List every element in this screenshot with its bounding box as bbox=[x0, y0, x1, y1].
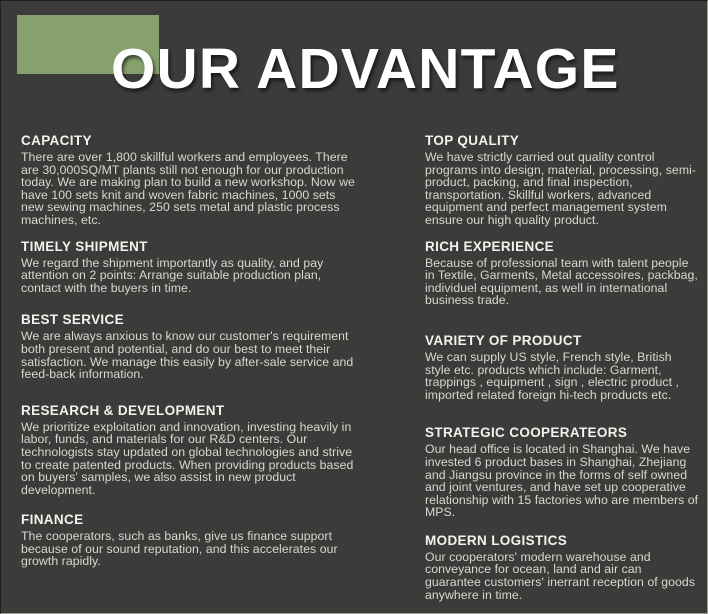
block-heading: RICH EXPERIENCE bbox=[425, 239, 699, 255]
block-body: We prioritize exploitation and innovatio… bbox=[21, 421, 355, 497]
advantage-block-top-quality: TOP QUALITY We have strictly carried out… bbox=[425, 133, 699, 227]
advantage-block-strategic-cooperateors: STRATEGIC COOPERATEORS Our head office i… bbox=[425, 425, 699, 519]
block-heading: RESEARCH & DEVELOPMENT bbox=[21, 403, 355, 419]
page-title: OUR ADVANTAGE bbox=[111, 39, 620, 99]
block-body: The cooperators, such as banks, give us … bbox=[21, 530, 355, 568]
block-heading: FINANCE bbox=[21, 512, 355, 528]
block-body: We have strictly carried out quality con… bbox=[425, 151, 699, 227]
advantage-block-research-development: RESEARCH & DEVELOPMENT We prioritize exp… bbox=[21, 403, 355, 497]
block-body: We can supply US style, French style, Br… bbox=[425, 351, 699, 401]
left-column: CAPACITY There are over 1,800 skillful w… bbox=[1, 133, 367, 601]
advantage-block-rich-experience: RICH EXPERIENCE Because of professional … bbox=[425, 239, 699, 307]
block-body: Our head office is located in Shanghai. … bbox=[425, 443, 699, 519]
block-heading: TIMELY SHIPMENT bbox=[21, 239, 355, 255]
advantage-block-finance: FINANCE The cooperators, such as banks, … bbox=[21, 512, 355, 568]
right-column: TOP QUALITY We have strictly carried out… bbox=[367, 133, 708, 601]
advantage-block-modern-logistics: MODERN LOGISTICS Our cooperators' modern… bbox=[425, 533, 699, 601]
block-heading: STRATEGIC COOPERATEORS bbox=[425, 425, 699, 441]
advantage-block-timely-shipment: TIMELY SHIPMENT We regard the shipment i… bbox=[21, 239, 355, 295]
block-heading: TOP QUALITY bbox=[425, 133, 699, 149]
block-body: We regard the shipment importantly as qu… bbox=[21, 257, 355, 295]
advantage-block-capacity: CAPACITY There are over 1,800 skillful w… bbox=[21, 133, 355, 227]
poster-root: OUR ADVANTAGE CAPACITY There are over 1,… bbox=[0, 0, 708, 614]
block-body: Our cooperators' modern warehouse and co… bbox=[425, 551, 699, 601]
block-heading: BEST SERVICE bbox=[21, 312, 355, 328]
block-heading: VARIETY OF PRODUCT bbox=[425, 333, 699, 349]
block-heading: CAPACITY bbox=[21, 133, 355, 149]
block-body: There are over 1,800 skillful workers an… bbox=[21, 151, 355, 227]
advantage-block-best-service: BEST SERVICE We are always anxious to kn… bbox=[21, 312, 355, 380]
block-heading: MODERN LOGISTICS bbox=[425, 533, 699, 549]
content-columns: CAPACITY There are over 1,800 skillful w… bbox=[1, 133, 708, 601]
advantage-block-variety-of-product: VARIETY OF PRODUCT We can supply US styl… bbox=[425, 333, 699, 401]
block-body: Because of professional team with talent… bbox=[425, 257, 699, 307]
block-body: We are always anxious to know our custom… bbox=[21, 330, 355, 380]
